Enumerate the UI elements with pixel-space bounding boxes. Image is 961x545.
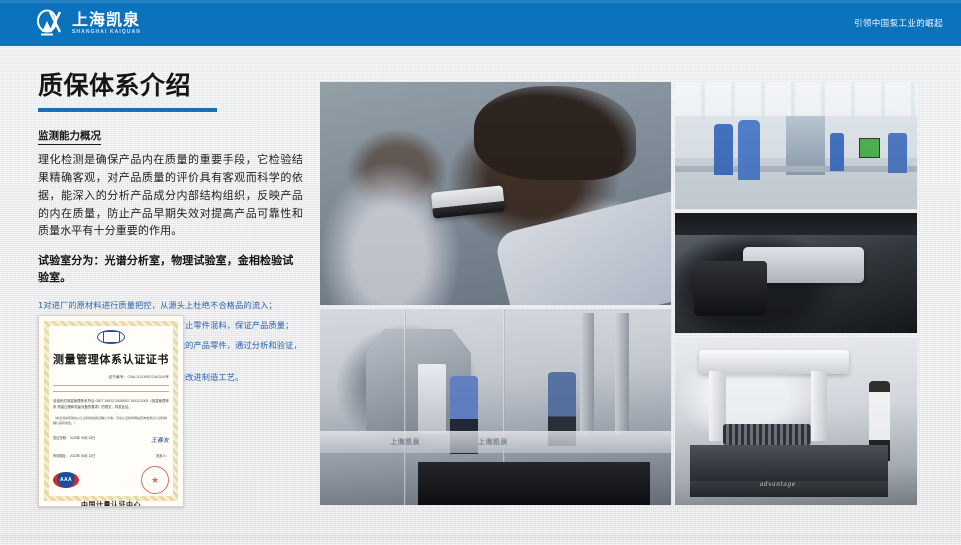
certificate-address-label: 企业地址：	[53, 391, 70, 393]
slide-bottom-edge	[0, 535, 961, 545]
photo-detail-head	[474, 86, 635, 180]
photo-detail-ceiling	[675, 82, 917, 116]
photo-coordinate-measuring-machine[interactable]: advantage	[675, 337, 917, 505]
photo-detail-person	[888, 133, 907, 174]
photo-engineer-microscope[interactable]	[320, 82, 671, 305]
certificate-expiry-value: 2022年 05月 22日	[70, 454, 96, 458]
certificate-title: 测量管理体系认证证书	[53, 351, 169, 367]
header-tagline: 引领中国泵工业的崛起	[854, 0, 943, 46]
red-official-seal-icon: ★	[141, 466, 169, 494]
photo-detail-dark-top	[675, 213, 917, 235]
photo-detail-granite-table	[418, 462, 650, 505]
certificate-expiry-label: 有效期至：	[53, 454, 69, 458]
photo-detail-microscope	[431, 185, 505, 218]
measurement-certificate-image[interactable]: 测量管理体系认证证书 证书编号： CNA-012MS024A304号 企业名称：…	[38, 315, 184, 507]
photo-detail-instrument-body	[694, 261, 767, 316]
photo-detail-labcoat	[492, 190, 671, 305]
photo-detail-glass-mullion	[503, 309, 505, 505]
photo-detail-test-machine	[366, 329, 471, 431]
photo-detail-monitor	[859, 138, 880, 158]
certificate-approver-label: 批准人：	[156, 453, 169, 458]
certificate-company-value: 上海凯泉泵业（集团）有限公司	[71, 385, 118, 387]
logo-chinese-name: 上海凯泉	[72, 12, 141, 28]
photo-detail-glass-band: 上海凯泉 上海凯泉	[320, 431, 671, 454]
photo-detail-worker	[548, 372, 576, 446]
logo-english-name: SHANGHAI KAIQUAN	[72, 30, 141, 35]
list-item: 1对进厂的原材料进行质量把控，从源头上杜绝不合格品的流入；	[38, 299, 303, 312]
header-highlight	[0, 0, 961, 3]
photo-detail-measured-part	[723, 424, 810, 444]
certificate-address-value: 上海市嘉定区黄渡镇园区 4201号、4202号	[71, 391, 135, 393]
photo-detail-person	[830, 133, 845, 171]
certificate-emblem-icon	[97, 330, 125, 344]
certificate-issue-date-value: 2019年 05月 23日	[70, 436, 96, 440]
kaiquan-pump-logo-icon	[36, 9, 66, 38]
glass-brand-text: 上海凯泉	[478, 437, 508, 447]
photo-detail-granite-base	[690, 445, 888, 482]
photo-detail-control-panel	[418, 364, 446, 435]
photo-detail-machine-base	[690, 481, 888, 496]
certificate-signature: 王春友	[151, 435, 169, 444]
page-title: 质保体系介绍	[38, 72, 303, 100]
photo-collage: 上海凯泉 上海凯泉 advantage	[320, 82, 917, 505]
photo-detail-instrument-arm	[743, 247, 864, 283]
certificate-number-label: 证书编号：	[108, 375, 127, 380]
intro-paragraph: 理化检测是确保产品内在质量的重要手段，它检验结果精确客观，对产品质量的评价具有客…	[38, 151, 303, 240]
photo-detail-gantry-leg	[709, 371, 726, 442]
glass-brand-text: 上海凯泉	[390, 437, 420, 447]
slide-root: 上海凯泉 SHANGHAI KAIQUAN 引领中国泵工业的崛起 质保体系介绍 …	[0, 0, 961, 545]
certificate-note-text: （本证书的有效性以认证机构的换证确认为准，可在认证机构网站查询或通过认证机构确认…	[53, 416, 169, 426]
photo-detail-gantry-leg	[811, 371, 828, 442]
photo-physical-test-lab[interactable]: 上海凯泉 上海凯泉	[320, 309, 671, 505]
photo-detail-column	[615, 313, 629, 435]
photo-testing-laboratory[interactable]	[675, 82, 917, 209]
photo-detail-technician	[869, 381, 891, 462]
section-heading: 监测能力概况	[38, 130, 101, 146]
certificate-company-label: 企业名称：	[53, 385, 70, 387]
photo-detail-column	[580, 313, 594, 435]
photo-detail-person	[714, 124, 733, 175]
photo-detail-glass-mullion	[404, 309, 406, 505]
photo-detail-bench	[675, 166, 917, 172]
certificate-number-value: CNA-012MS024A304号	[127, 375, 169, 380]
certificate-issuer: 中国计量认证中心	[81, 500, 141, 507]
cmm-brand-text: advantage	[760, 481, 796, 488]
brand-logo[interactable]: 上海凯泉 SHANGHAI KAIQUAN	[36, 8, 141, 39]
certificate-issue-date-label: 发证日期：	[53, 436, 69, 440]
aaa-rating-seal-icon: AAA	[53, 472, 79, 488]
photo-detail-cabinet	[786, 116, 825, 174]
photo-detail-gantry	[699, 350, 849, 374]
photo-spectrometer-instrument[interactable]	[675, 213, 917, 333]
page-header: 上海凯泉 SHANGHAI KAIQUAN 引领中国泵工业的崛起	[0, 0, 961, 46]
lab-rooms-line: 试验室分为：光谱分析室，物理试验室，金相检验试验室。	[38, 253, 303, 286]
certificate-body-text: 该组织的测量管理体系符合 GB/T 19022-2003/ISO 10012:2…	[53, 399, 169, 411]
photo-detail-worker	[450, 376, 478, 454]
photo-detail-person	[738, 120, 760, 180]
